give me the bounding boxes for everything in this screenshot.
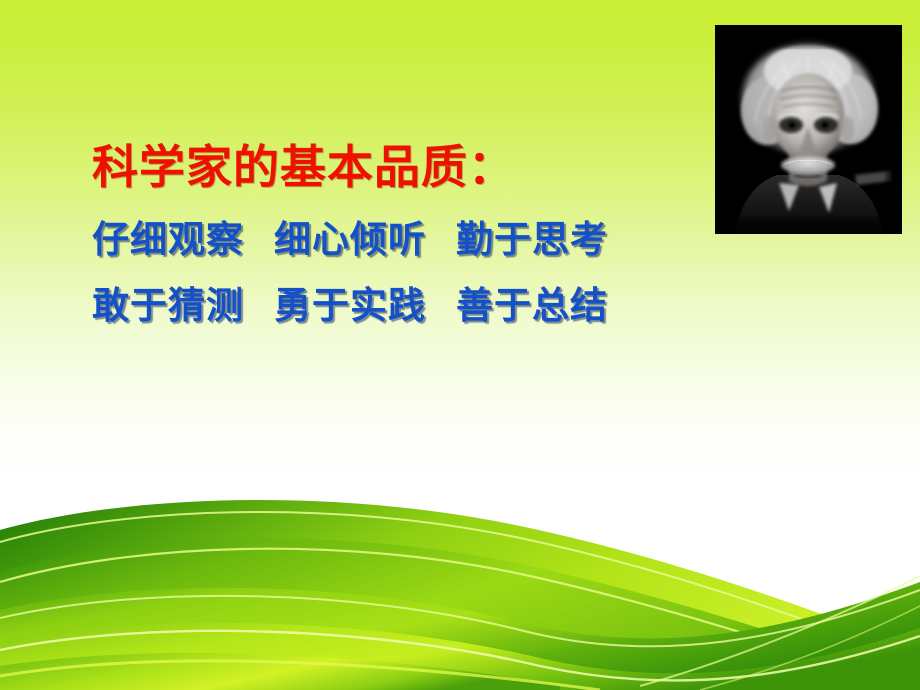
slide-canvas: 科学家的基本品质： 仔细观察细心倾听勤于思考 敢于猜测勇于实践善于总结 <box>0 0 920 690</box>
einstein-portrait-graphic <box>715 25 902 234</box>
bullet-item-2-2: 勇于实践 <box>274 283 426 327</box>
bullet-item-2-3: 善于总结 <box>456 283 608 327</box>
slide-title: 科学家的基本品质： <box>92 136 712 198</box>
bullet-item-2-1: 敢于猜测 <box>92 283 244 327</box>
einstein-photo <box>715 25 902 234</box>
slide-text-block: 科学家的基本品质： 仔细观察细心倾听勤于思考 敢于猜测勇于实践善于总结 <box>92 136 712 338</box>
bullet-item-1-3: 勤于思考 <box>456 217 608 261</box>
bullet-line-2: 敢于猜测勇于实践善于总结 <box>92 272 712 338</box>
bullet-line-1: 仔细观察细心倾听勤于思考 <box>92 206 712 272</box>
bullet-item-1-2: 细心倾听 <box>274 217 426 261</box>
bullet-item-1-1: 仔细观察 <box>92 217 244 261</box>
